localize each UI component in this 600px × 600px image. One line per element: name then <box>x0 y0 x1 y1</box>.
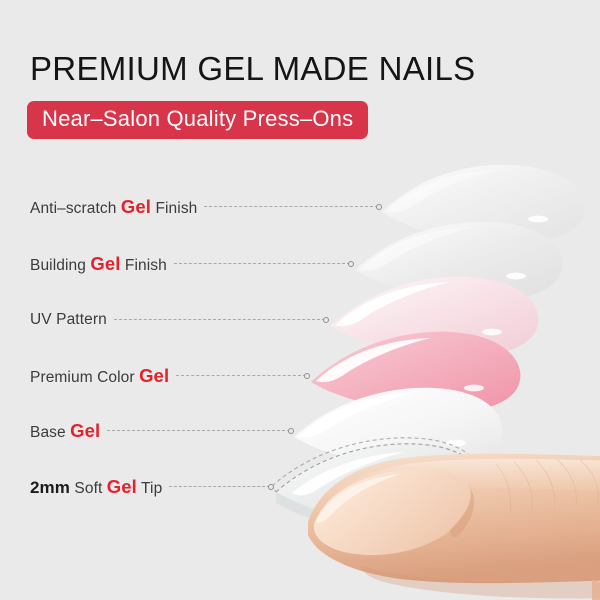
layer-building-gel-finish <box>355 222 562 300</box>
callout-row-2mm-soft-gel-tip: 2mm Soft Gel Tip <box>0 474 270 500</box>
label-segment: Gel <box>107 476 137 497</box>
callout-row-building-gel-finish: Building Gel Finish <box>0 251 350 277</box>
label-segment: UV Pattern <box>30 311 107 328</box>
product-infographic: PREMIUM GEL MADE NAILS Near–Salon Qualit… <box>0 0 600 600</box>
label-segment: Tip <box>137 480 162 497</box>
label-segment: Gel <box>139 365 169 386</box>
label-segment: 2mm <box>30 478 70 497</box>
layer-anti-scratch-gel-finish <box>382 165 585 243</box>
label-segment: Soft <box>70 480 107 497</box>
leader-line-building-gel-finish <box>174 263 350 265</box>
leader-line-premium-color-gel <box>176 375 306 377</box>
leader-endpoint-dot <box>288 428 294 434</box>
callout-label-building-gel-finish: Building Gel Finish <box>30 253 167 275</box>
layer-uv-pattern <box>330 277 538 356</box>
page-title: PREMIUM GEL MADE NAILS <box>30 49 475 89</box>
callout-label-premium-color-gel: Premium Color Gel <box>30 365 169 387</box>
subtitle-badge: Near–Salon Quality Press–Ons <box>27 101 368 139</box>
label-segment: Gel <box>121 196 151 217</box>
leader-line-anti-scratch-gel-finish <box>204 206 378 208</box>
label-segment: Premium Color <box>30 369 139 386</box>
leader-line-base-gel <box>107 430 290 432</box>
label-segment: Finish <box>120 257 166 274</box>
label-segment: Gel <box>70 420 100 441</box>
leader-endpoint-dot <box>376 204 382 210</box>
leader-endpoint-dot <box>323 317 329 323</box>
leader-endpoint-dot <box>348 261 354 267</box>
label-segment: Anti–scratch <box>30 200 121 217</box>
callout-row-anti-scratch-gel-finish: Anti–scratch Gel Finish <box>0 194 378 220</box>
leader-line-2mm-soft-gel-tip <box>169 486 270 488</box>
index-finger-photo <box>300 430 600 600</box>
leader-endpoint-dot <box>268 484 274 490</box>
leader-line-uv-pattern <box>114 319 325 321</box>
callout-row-premium-color-gel: Premium Color Gel <box>0 363 306 389</box>
callout-label-anti-scratch-gel-finish: Anti–scratch Gel Finish <box>30 196 197 218</box>
label-segment: Finish <box>151 200 197 217</box>
layer-premium-color-gel <box>311 332 520 412</box>
callout-label-base-gel: Base Gel <box>30 420 100 442</box>
callout-row-base-gel: Base Gel <box>0 418 290 444</box>
label-segment: Base <box>30 424 70 441</box>
callout-label-2mm-soft-gel-tip: 2mm Soft Gel Tip <box>30 476 162 498</box>
callout-label-uv-pattern: UV Pattern <box>30 311 107 329</box>
label-segment: Building <box>30 257 90 274</box>
callout-row-uv-pattern: UV Pattern <box>0 307 325 333</box>
leader-endpoint-dot <box>304 373 310 379</box>
label-segment: Gel <box>90 253 120 274</box>
